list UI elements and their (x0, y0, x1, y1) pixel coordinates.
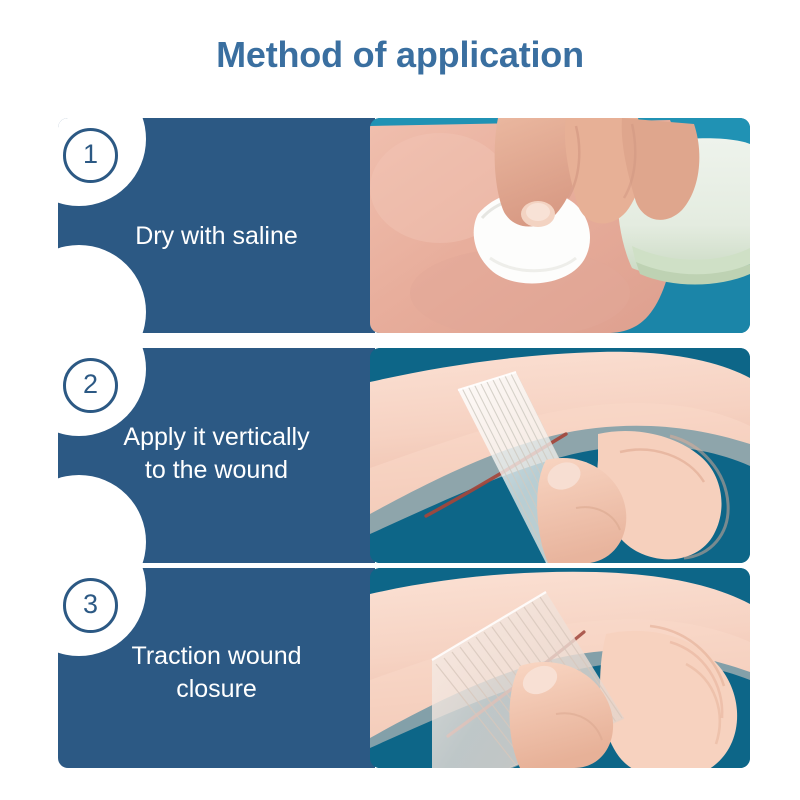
step-photo-2 (370, 348, 750, 563)
step-photo-3 (370, 568, 750, 768)
step-number-3: 3 (66, 581, 115, 630)
infographic-page: Method of application Dry with saline 1 (0, 0, 800, 800)
step-photo-1 (370, 118, 750, 333)
page-title: Method of application (0, 34, 800, 75)
strip-application-photo (370, 348, 750, 563)
step-number-badge-1: 1 (63, 128, 118, 183)
step-label-2: Apply it vertically to the wound (58, 421, 375, 487)
step-number-badge-2: 2 (63, 358, 118, 413)
step-card-2: Apply it vertically to the wound 2 (58, 348, 750, 563)
step-card-1: Dry with saline 1 (58, 118, 750, 333)
step-label-3: Traction wound closure (58, 640, 375, 706)
step-number-1: 1 (66, 131, 115, 180)
step-number-badge-3: 3 (63, 578, 118, 633)
wound-cleaning-photo (370, 118, 750, 333)
step-number-2: 2 (66, 361, 115, 410)
step-label-1: Dry with saline (58, 220, 375, 253)
corner-notch-bottom-1 (58, 245, 146, 333)
corner-notch-bottom-2 (58, 475, 146, 563)
step-card-3: Traction wound closure 3 (58, 568, 750, 768)
wound-closure-photo (370, 568, 750, 768)
